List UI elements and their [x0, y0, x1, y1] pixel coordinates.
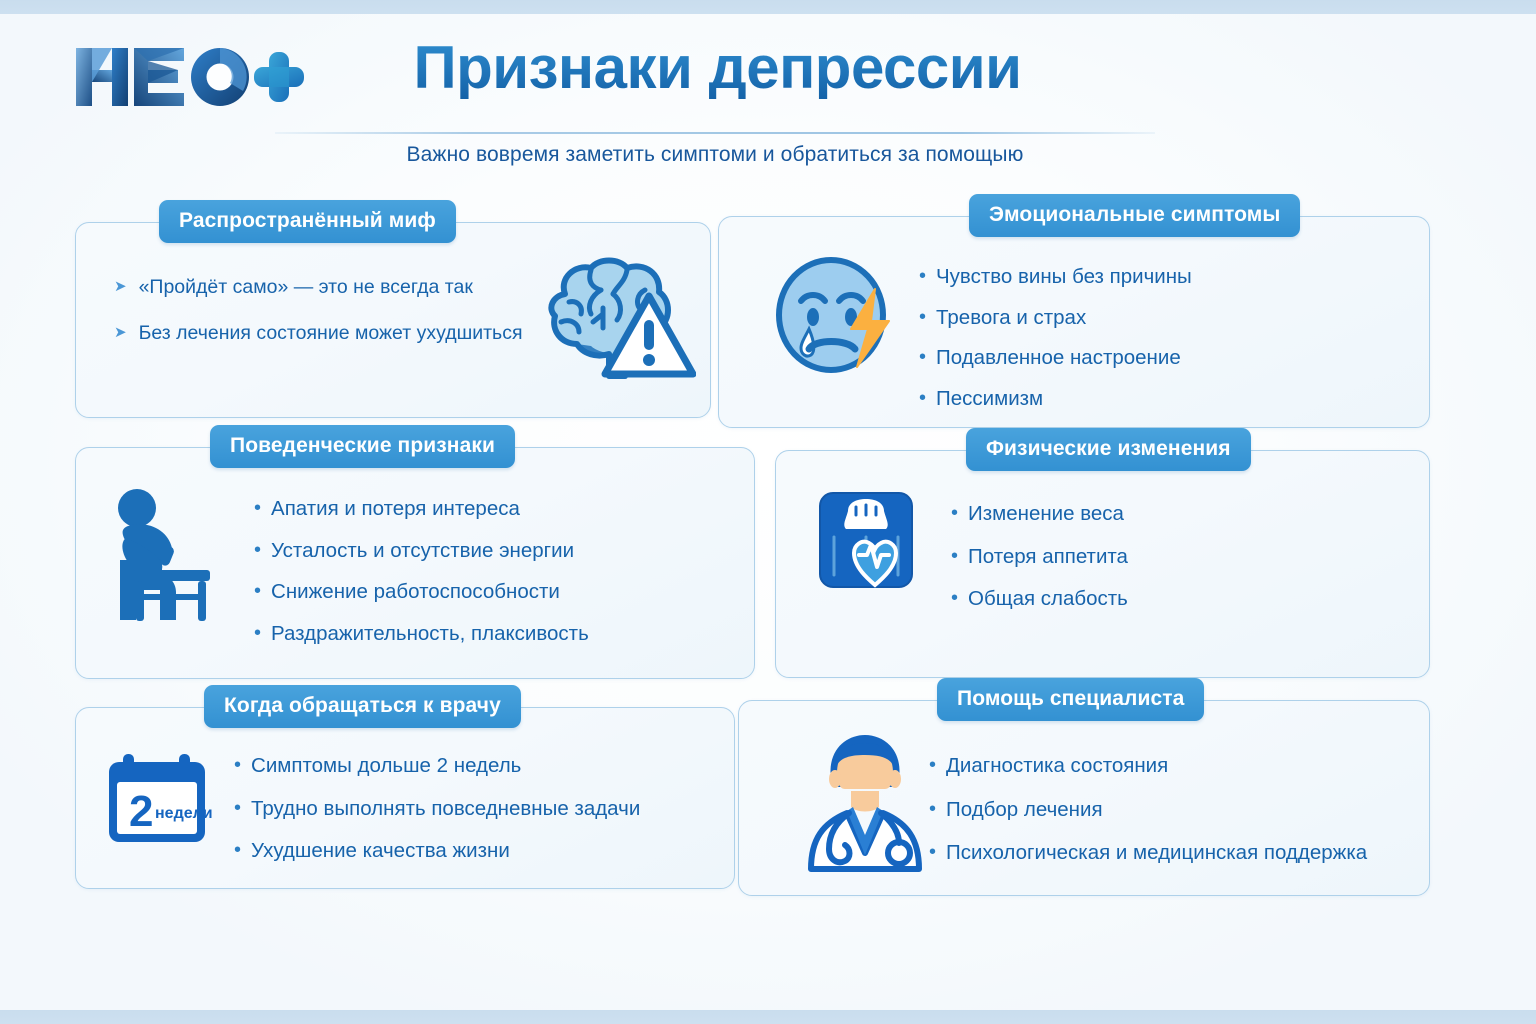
list-item: ➤ «Пройдёт само» — это не всегда так — [114, 275, 523, 299]
title-divider — [275, 132, 1155, 134]
calendar-unit: недели — [155, 805, 213, 822]
list-item: • Изменение веса — [951, 501, 1128, 527]
card-behavior-list: • Апатия и потеря интереса • Усталость и… — [254, 496, 589, 647]
list-item: • Общая слабость — [951, 586, 1128, 612]
card-emotional-list: • Чувство вины без причины • Тревога и с… — [919, 264, 1192, 412]
list-item: • Трудно выполнять повседневные задачи — [234, 796, 640, 822]
list-item: • Подавленное настроение — [919, 345, 1192, 371]
list-item-label: Ухудшение качества жизни — [251, 838, 510, 864]
list-item: • Пессимизм — [919, 386, 1192, 412]
page-subtitle: Важно вовремя заметить симптоми и обрати… — [275, 143, 1155, 167]
arrow-bullet-icon: ➤ — [114, 275, 127, 299]
card-help-list: • Диагностика состояния • Подбор лечения… — [929, 753, 1367, 866]
list-item-label: Диагностика состояния — [946, 753, 1168, 779]
card-myth-title: Распространённый миф — [159, 200, 456, 243]
list-item-label: Усталость и отсутствие энергии — [271, 538, 574, 564]
card-when-to-see-doctor: Когда обращаться к врачу • Симптомы доль… — [75, 707, 735, 889]
dot-bullet-icon: • — [951, 544, 958, 569]
list-item: • Психологическая и медицинская поддержк… — [929, 840, 1367, 866]
dot-bullet-icon: • — [919, 386, 926, 411]
list-item: • Снижение работоспособности — [254, 579, 589, 605]
list-item: • Потеря аппетита — [951, 544, 1128, 570]
list-item: • Усталость и отсутствие энергии — [254, 538, 589, 564]
dot-bullet-icon: • — [254, 621, 261, 646]
card-physical-list: • Изменение веса • Потеря аппетита • Общ… — [951, 501, 1128, 612]
calendar-icon: 2 недели — [101, 752, 221, 855]
list-item: • Подбор лечения — [929, 797, 1367, 823]
card-physical: Физические изменения • Изменение веса • … — [775, 450, 1430, 678]
list-item-label: «Пройдёт само» — это не всегда так — [139, 275, 473, 299]
top-accent-band — [0, 0, 1536, 14]
page-title: Признаки депрессии — [275, 36, 1160, 99]
dot-bullet-icon: • — [919, 345, 926, 370]
list-item: • Тревога и страх — [919, 305, 1192, 331]
list-item: • Ухудшение качества жизни — [234, 838, 640, 864]
list-item-label: Снижение работоспособности — [271, 579, 560, 605]
list-item: ➤ Без лечения состояние может ухудшиться — [114, 321, 523, 345]
list-item-label: Раздражительность, плаксивость — [271, 621, 589, 647]
list-item-label: Подавленное настроение — [936, 345, 1181, 371]
list-item-label: Пессимизм — [936, 386, 1043, 412]
dot-bullet-icon: • — [951, 501, 958, 526]
list-item-label: Чувство вины без причины — [936, 264, 1192, 290]
card-specialist-help: Помощь специалиста • Диагностика состоян… — [738, 700, 1430, 896]
list-item-label: Подбор лечения — [946, 797, 1103, 823]
calendar-number: 2 — [129, 787, 153, 836]
list-item-label: Изменение веса — [968, 501, 1124, 527]
weight-scale-heart-icon — [814, 489, 944, 616]
dot-bullet-icon: • — [254, 538, 261, 563]
brain-warning-icon — [521, 248, 696, 398]
dot-bullet-icon: • — [951, 586, 958, 611]
list-item-label: Психологическая и медицинская поддержка — [946, 840, 1367, 866]
list-item: • Чувство вины без причины — [919, 264, 1192, 290]
card-emotional-title: Эмоциональные симптомы — [969, 194, 1300, 237]
list-item-label: Потеря аппетита — [968, 544, 1128, 570]
card-behavior-title: Поведенческие признаки — [210, 425, 515, 468]
card-doctor-list: • Симптомы дольше 2 недель • Трудно выпо… — [234, 753, 640, 864]
list-item-label: Апатия и потеря интереса — [271, 496, 520, 522]
list-item-label: Общая слабость — [968, 586, 1128, 612]
card-emotional: Эмоциональные симптомы • Чувство вины бе… — [718, 216, 1430, 428]
card-behavior: Поведенческие признаки • Апатия и потеря… — [75, 447, 755, 679]
list-item-label: Симптомы дольше 2 недель — [251, 753, 521, 779]
sitting-person-icon — [106, 486, 231, 633]
list-item: • Симптомы дольше 2 недель — [234, 753, 640, 779]
doctor-icon — [789, 731, 939, 878]
card-help-title: Помощь специалиста — [937, 678, 1204, 721]
list-item-label: Трудно выполнять повседневные задачи — [251, 796, 640, 822]
list-item: • Раздражительность, плаксивость — [254, 621, 589, 647]
sad-face-lightning-icon — [771, 251, 901, 388]
card-myth: Распространённый миф ➤ «Пройдёт само» — … — [75, 222, 711, 418]
list-item-label: Без лечения состояние может ухудшиться — [139, 321, 523, 345]
dot-bullet-icon: • — [234, 796, 241, 821]
dot-bullet-icon: • — [234, 753, 241, 778]
list-item-label: Тревога и страх — [936, 305, 1086, 331]
arrow-bullet-icon: ➤ — [114, 321, 127, 345]
bottom-accent-band — [0, 1010, 1536, 1024]
list-item: • Апатия и потеря интереса — [254, 496, 589, 522]
list-item: • Диагностика состояния — [929, 753, 1367, 779]
dot-bullet-icon: • — [254, 496, 261, 521]
dot-bullet-icon: • — [254, 579, 261, 604]
card-myth-list: ➤ «Пройдёт само» — это не всегда так ➤ Б… — [114, 275, 523, 346]
card-doctor-title: Когда обращаться к врачу — [204, 685, 521, 728]
dot-bullet-icon: • — [919, 305, 926, 330]
dot-bullet-icon: • — [919, 264, 926, 289]
card-physical-title: Физические изменения — [966, 428, 1251, 471]
infographic-page: Признаки депрессии Важно вовремя заметит… — [0, 0, 1536, 1024]
dot-bullet-icon: • — [234, 838, 241, 863]
header: Признаки депрессии Важно вовремя заметит… — [0, 14, 1536, 179]
